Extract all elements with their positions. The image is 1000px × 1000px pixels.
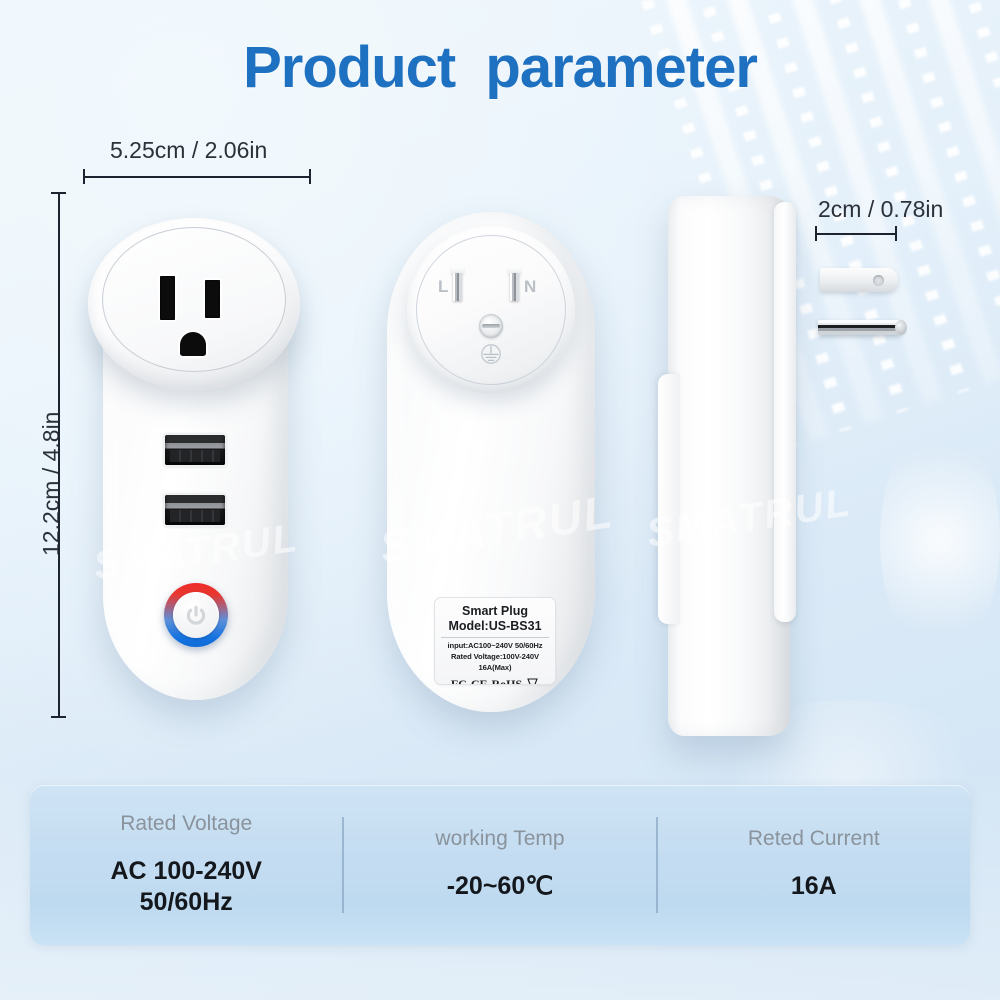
- label-model: Model:US-BS31: [435, 619, 555, 634]
- usb-port-bottom: [165, 495, 225, 525]
- blade-hole: [873, 275, 884, 286]
- width-dimension-tick-left: [83, 169, 85, 184]
- prong-right: [510, 273, 519, 301]
- ce-mark: CE: [471, 677, 488, 685]
- specs-panel: Rated Voltage AC 100-240V 50/60Hz workin…: [30, 785, 970, 945]
- wheelie-bin-crossed-icon: [526, 677, 539, 686]
- spec-value: -20~60℃: [350, 871, 650, 902]
- height-dimension-label: 12.2cm / 4.8in: [38, 412, 65, 556]
- spec-label: Rated Voltage: [36, 812, 336, 836]
- depth-dimension-line: [815, 233, 897, 235]
- background-glow: [880, 420, 1000, 660]
- spec-label: working Temp: [350, 827, 650, 851]
- spec-rated-voltage: Rated Voltage AC 100-240V 50/60Hz: [30, 812, 342, 919]
- spec-value: 16A: [664, 871, 964, 902]
- outlet-ground-hole: [180, 332, 206, 356]
- height-dimension-tick-bottom: [51, 716, 66, 718]
- back-view-body: SMATRUL L N Smart Plug Model:US-BS31 in: [387, 212, 595, 712]
- label-product-name: Smart Plug: [435, 604, 555, 619]
- watermark: SMATRUL: [91, 516, 302, 589]
- width-dimension-label: 5.25cm / 2.06in: [110, 137, 267, 164]
- rohs-mark: RoHS: [491, 677, 522, 685]
- height-dimension-tick-top: [51, 192, 66, 194]
- label-certifications: FC CE RoHS: [435, 677, 555, 686]
- power-button[interactable]: [164, 583, 228, 647]
- page-title: Product parameter: [0, 34, 1000, 101]
- side-rear-lip: [658, 374, 680, 624]
- spec-working-temp: working Temp -20~60℃: [344, 827, 656, 902]
- spec-rated-current: Reted Current 16A: [658, 827, 970, 902]
- usb-contacts: [170, 510, 220, 522]
- side-prong-blade: [820, 268, 898, 292]
- watermark: SMATRUL: [376, 484, 617, 574]
- height-dimension-line: [58, 192, 60, 717]
- width-dimension-line: [83, 176, 311, 178]
- product-parameter-infographic: Product parameter 5.25cm / 2.06in 12.2cm…: [0, 0, 1000, 1000]
- usb-port-top: [165, 435, 225, 465]
- prong-left: [453, 273, 462, 301]
- label-rated-voltage: Rated Voltage:100V-240V 16A(Max): [435, 651, 555, 673]
- front-socket-face: [88, 218, 300, 390]
- prong-label-n: N: [524, 277, 536, 297]
- depth-dimension-tick-right: [895, 226, 897, 241]
- screw: [479, 314, 503, 338]
- side-prong-pin: [818, 320, 904, 335]
- side-front-cap: [774, 202, 796, 622]
- side-view-body: SMATRUL: [668, 196, 790, 736]
- spec-label: Reted Current: [664, 827, 964, 851]
- label-divider: [441, 637, 549, 638]
- spec-label-plate: Smart Plug Model:US-BS31 input:AC100~240…: [434, 597, 556, 685]
- depth-dimension-tick-left: [815, 226, 817, 241]
- width-dimension-tick-right: [309, 169, 311, 184]
- back-socket-face: L N: [407, 226, 575, 394]
- label-input: input:AC100~240V 50/60Hz: [435, 640, 555, 651]
- usb-contacts: [170, 450, 220, 462]
- depth-dimension-label: 2cm / 0.78in: [818, 196, 943, 223]
- spec-value: AC 100-240V 50/60Hz: [36, 856, 336, 919]
- earth-ground-icon: [478, 344, 504, 366]
- fc-mark: FC: [451, 677, 467, 685]
- outlet-slot-right: [205, 280, 220, 318]
- outlet-slot-left: [160, 276, 175, 320]
- prong-label-l: L: [438, 277, 448, 297]
- power-icon: [164, 583, 228, 647]
